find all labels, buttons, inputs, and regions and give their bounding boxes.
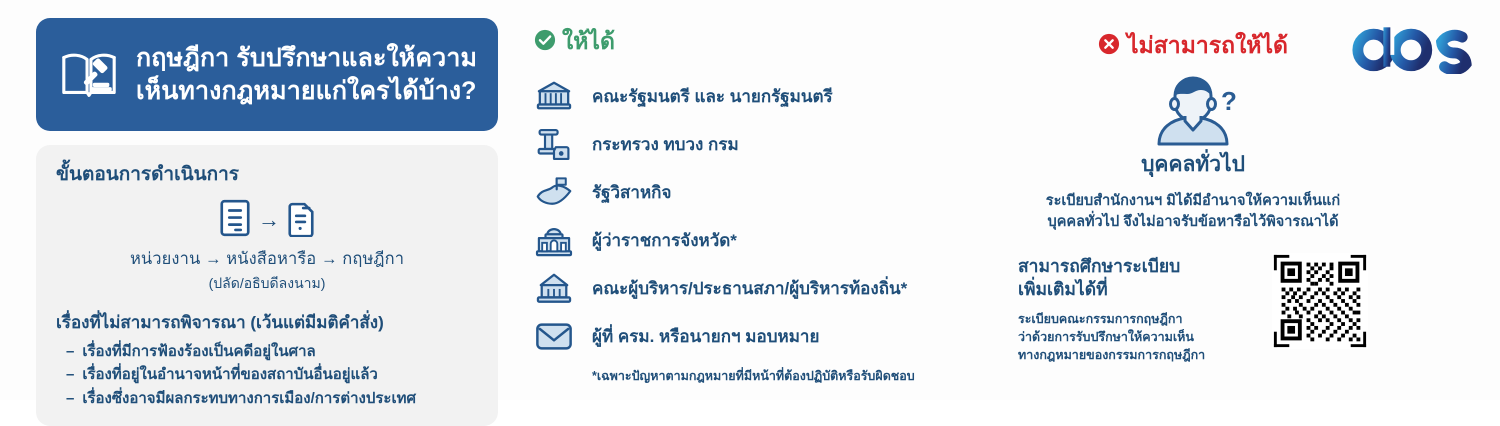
flag-land-icon — [534, 173, 574, 211]
person-description-line-1: ระเบียบสำนักงานฯ มิได้มีอำนาจให้ความเห็น… — [1018, 191, 1368, 212]
list-item-label: คณะผู้บริหาร/ประธานสภา/ผู้บริหารท้องถิ่น… — [592, 275, 907, 302]
exclusions-heading: เรื่องที่ไม่สามารถพิจารณา (เว้นแต่มีมติค… — [56, 309, 478, 336]
list-item: – เรื่องที่อยู่ในอำนาจหน้าที่ของสถาบันอื… — [66, 363, 478, 386]
study-more-block: สามารถศึกษาระเบียบ เพิ่มเติมได้ที่ ระเบี… — [1018, 253, 1368, 364]
qr-code-icon[interactable] — [1272, 253, 1368, 349]
dash-marker: – — [66, 340, 74, 363]
infographic-canvas: กฤษฎีกา รับปรึกษาและให้ความ เห็นทางกฎหมา… — [0, 0, 1500, 400]
title-banner: กฤษฎีกา รับปรึกษาและให้ความ เห็นทางกฎหมา… — [36, 18, 498, 131]
ministry-pillar-icon — [534, 125, 574, 163]
flow-arrow-icon: → — [258, 209, 280, 231]
denied-column: ไม่สามารถให้ได้ ? บุคคลทั่วไป ระเบียบสำน… — [1018, 28, 1368, 364]
flow-icon-row: → — [56, 197, 478, 243]
allowed-list: คณะรัฐมนตรี และ นายกรัฐมนตรี กระทรวง ท — [534, 72, 1034, 360]
list-item-label: เรื่องซึ่งอาจมีผลกระทบทางการเมือง/การต่า… — [82, 387, 416, 410]
flow-label: หน่วยงาน → หนังสือหารือ → กฤษฎีกา — [56, 246, 478, 272]
book-gavel-icon — [58, 44, 120, 106]
study-subtext: ระเบียบคณะกรรมการกฤษฎีกา ว่าด้วยการรับปร… — [1018, 310, 1266, 364]
study-texts: สามารถศึกษาระเบียบ เพิ่มเติมได้ที่ ระเบี… — [1018, 253, 1266, 364]
list-item-label: ผู้ที่ ครม. หรือนายกฯ มอบหมาย — [592, 323, 819, 350]
list-item-label: เรื่องที่อยู่ในอำนาจหน้าที่ของสถาบันอื่น… — [82, 363, 378, 386]
study-heading-line-1: สามารถศึกษาระเบียบ — [1018, 255, 1266, 278]
list-item-label: เรื่องที่มีการฟ้องร้องเป็นคดีอยู่ในศาล — [82, 340, 315, 363]
check-circle-icon — [534, 29, 556, 56]
document-lines-icon — [220, 199, 250, 242]
allowed-header: ให้ได้ — [534, 24, 1034, 60]
document-memo-icon — [288, 199, 314, 242]
list-item-label: รัฐวิสาหกิจ — [592, 179, 671, 206]
list-item: ผู้ที่ ครม. หรือนายกฯ มอบหมาย — [534, 312, 1034, 360]
allowed-column: ให้ได้ — [534, 24, 1034, 386]
list-item-label: กระทรวง ทบวง กรม — [592, 131, 739, 158]
denied-header-label: ไม่สามารถให้ได้ — [1127, 28, 1288, 64]
list-item-label: คณะรัฐมนตรี และ นายกรัฐมนตรี — [592, 83, 833, 110]
study-heading: สามารถศึกษาระเบียบ เพิ่มเติมได้ที่ — [1018, 255, 1266, 301]
local-government-icon — [534, 269, 574, 307]
left-column: กฤษฎีกา รับปรึกษาและให้ความ เห็นทางกฎหมา… — [36, 18, 498, 426]
flow-sublabel: (ปลัด/อธิบดีลงนาม) — [56, 273, 478, 295]
list-item: กระทรวง ทบวง กรม — [534, 120, 1034, 168]
process-flow: → หน่วยงาน → หนังสือหา — [56, 197, 478, 295]
study-subtext-line-2: ว่าด้วยการรับปรึกษาให้ความเห็น — [1018, 328, 1266, 346]
person-description-line-2: บุคคลทั่วไป จึงไม่อาจรับข้อหารือไว้พิจาร… — [1018, 212, 1368, 233]
study-heading-line-2: เพิ่มเติมได้ที่ — [1018, 278, 1266, 301]
list-item: คณะรัฐมนตรี และ นายกรัฐมนตรี — [534, 72, 1034, 120]
list-item: – เรื่องที่มีการฟ้องร้องเป็นคดีอยู่ในศาล — [66, 340, 478, 363]
title-line-1: กฤษฎีกา รับปรึกษาและให้ความ — [136, 42, 477, 75]
study-subtext-line-3: ทางกฎหมายของกรรมการกฤษฎีกา — [1018, 346, 1266, 364]
dash-marker: – — [66, 363, 74, 386]
allowed-footnote: *เฉพาะปัญหาตามกฎหมายที่มีหน้าที่ต้องปฏิบ… — [592, 366, 1034, 386]
list-item: – เรื่องซึ่งอาจมีผลกระทบทางการเมือง/การต… — [66, 387, 478, 410]
x-circle-icon — [1098, 33, 1120, 60]
exclusions-list: – เรื่องที่มีการฟ้องร้องเป็นคดีอยู่ในศาล… — [56, 340, 478, 410]
steps-heading: ขั้นตอนการดำเนินการ — [56, 159, 478, 189]
person-description: ระเบียบสำนักงานฯ มิได้มีอำนาจให้ความเห็น… — [1018, 191, 1368, 233]
person-title: บุคคลทั่วไป — [1018, 148, 1368, 181]
bank-columns-icon — [534, 77, 574, 115]
person-question-icon: ? — [1018, 72, 1368, 146]
title-line-2: เห็นทางกฎหมายแก่ใครได้บ้าง? — [136, 75, 477, 108]
allowed-header-label: ให้ได้ — [562, 24, 615, 60]
envelope-icon — [534, 317, 574, 355]
dash-marker: – — [66, 387, 74, 410]
svg-text:?: ? — [1221, 86, 1237, 116]
list-item: คณะผู้บริหาร/ประธานสภา/ผู้บริหารท้องถิ่น… — [534, 264, 1034, 312]
list-item: ผู้ว่าราชการจังหวัด* — [534, 216, 1034, 264]
provincial-hall-icon — [534, 221, 574, 259]
list-item-label: ผู้ว่าราชการจังหวัด* — [592, 227, 737, 254]
study-subtext-line-1: ระเบียบคณะกรรมการกฤษฎีกา — [1018, 310, 1266, 328]
ocs-logo — [1348, 22, 1476, 74]
denied-header: ไม่สามารถให้ได้ — [1018, 28, 1368, 64]
steps-panel: ขั้นตอนการดำเนินการ — [36, 145, 498, 426]
list-item: รัฐวิสาหกิจ — [534, 168, 1034, 216]
page-title: กฤษฎีกา รับปรึกษาและให้ความ เห็นทางกฎหมา… — [136, 42, 477, 108]
